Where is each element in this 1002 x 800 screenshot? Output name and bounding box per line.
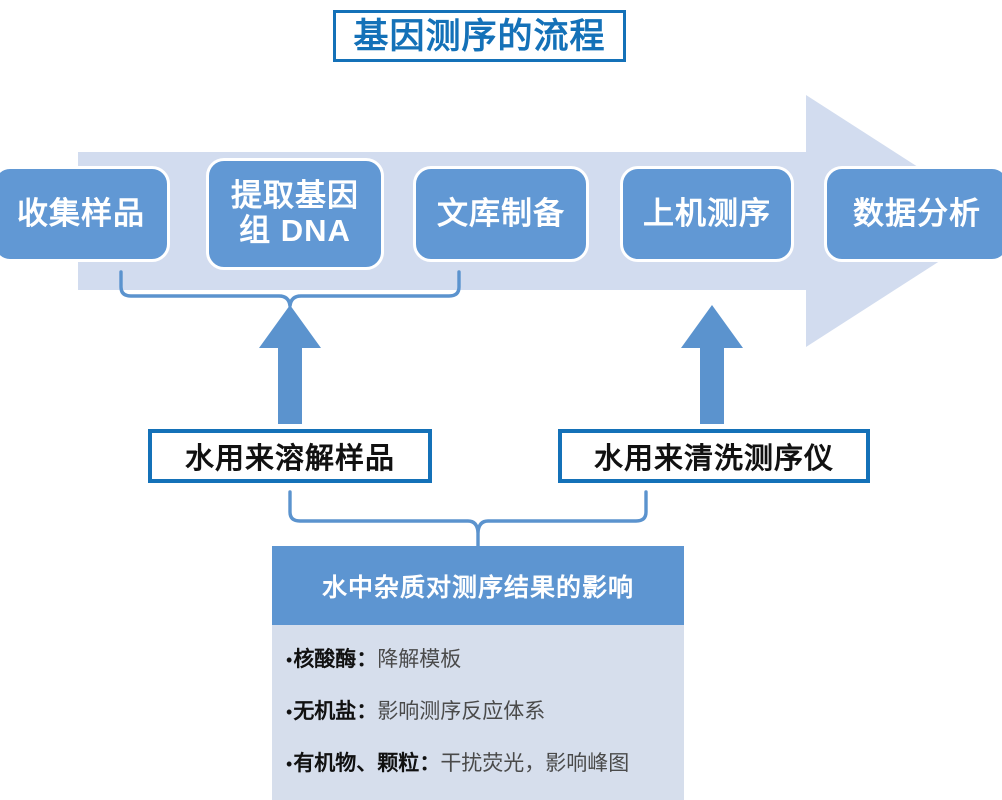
list-item: • 无机盐 ： 影响测序反应体系 [286, 695, 674, 725]
arrow-up-right [681, 305, 743, 424]
list-item: • 核酸酶 ： 降解模板 [286, 643, 674, 673]
bullet-text: 干扰荧光，影响峰图 [440, 747, 629, 777]
process-step-label: 数据分析 [853, 197, 981, 232]
bullet-label: 无机盐 [293, 695, 356, 725]
bullet-separator: ： [356, 695, 377, 725]
impurities-panel-body: • 核酸酶 ： 降解模板 • 无机盐 ： 影响测序反应体系 • 有机物、颗粒 ：… [272, 625, 684, 800]
callout-water-dissolves-sample[interactable]: 水用来溶解样品 [148, 429, 432, 483]
bullet-separator: ： [419, 747, 440, 777]
bullet-marker-icon: • [286, 755, 292, 773]
process-step-library-prep[interactable]: 文库制备 [413, 166, 589, 262]
process-step-label: 文库制备 [437, 197, 565, 232]
diagram-canvas: 基因测序的流程 收集样品 提取基因 组 DNA 文库制备 上机测序 数据分析 [0, 0, 1002, 800]
bullet-text: 影响测序反应体系 [377, 695, 545, 725]
brace-callouts-to-panel [290, 492, 646, 546]
process-step-sequencing-run[interactable]: 上机测序 [620, 166, 794, 262]
process-step-extract-genomic-dna[interactable]: 提取基因 组 DNA [206, 158, 384, 270]
process-step-collect-sample[interactable]: 收集样品 [0, 166, 170, 262]
process-step-data-analysis[interactable]: 数据分析 [824, 166, 1002, 262]
bullet-marker-icon: • [286, 703, 292, 721]
callout-water-cleans-sequencer[interactable]: 水用来清洗测序仪 [558, 429, 870, 483]
page-title: 基因测序的流程 [333, 10, 626, 62]
list-item: • 有机物、颗粒 ： 干扰荧光，影响峰图 [286, 747, 674, 777]
arrow-up-left [259, 305, 321, 424]
callout-label: 水用来溶解样品 [185, 435, 395, 477]
callout-label: 水用来清洗测序仪 [594, 435, 834, 477]
process-step-label: 上机测序 [643, 197, 771, 232]
process-step-label: 提取基因 组 DNA [231, 179, 359, 248]
page-title-text: 基因测序的流程 [353, 19, 605, 54]
impurities-panel: 水中杂质对测序结果的影响 • 核酸酶 ： 降解模板 • 无机盐 ： 影响测序反应… [272, 546, 684, 800]
process-step-label: 收集样品 [17, 197, 145, 232]
bullet-separator: ： [356, 643, 377, 673]
impurities-panel-header: 水中杂质对测序结果的影响 [272, 546, 684, 625]
bullet-text: 降解模板 [377, 643, 461, 673]
bullet-label: 核酸酶 [293, 643, 356, 673]
bullet-label: 有机物、颗粒 [293, 747, 419, 777]
bullet-marker-icon: • [286, 651, 292, 669]
impurities-panel-title: 水中杂质对测序结果的影响 [322, 568, 634, 604]
